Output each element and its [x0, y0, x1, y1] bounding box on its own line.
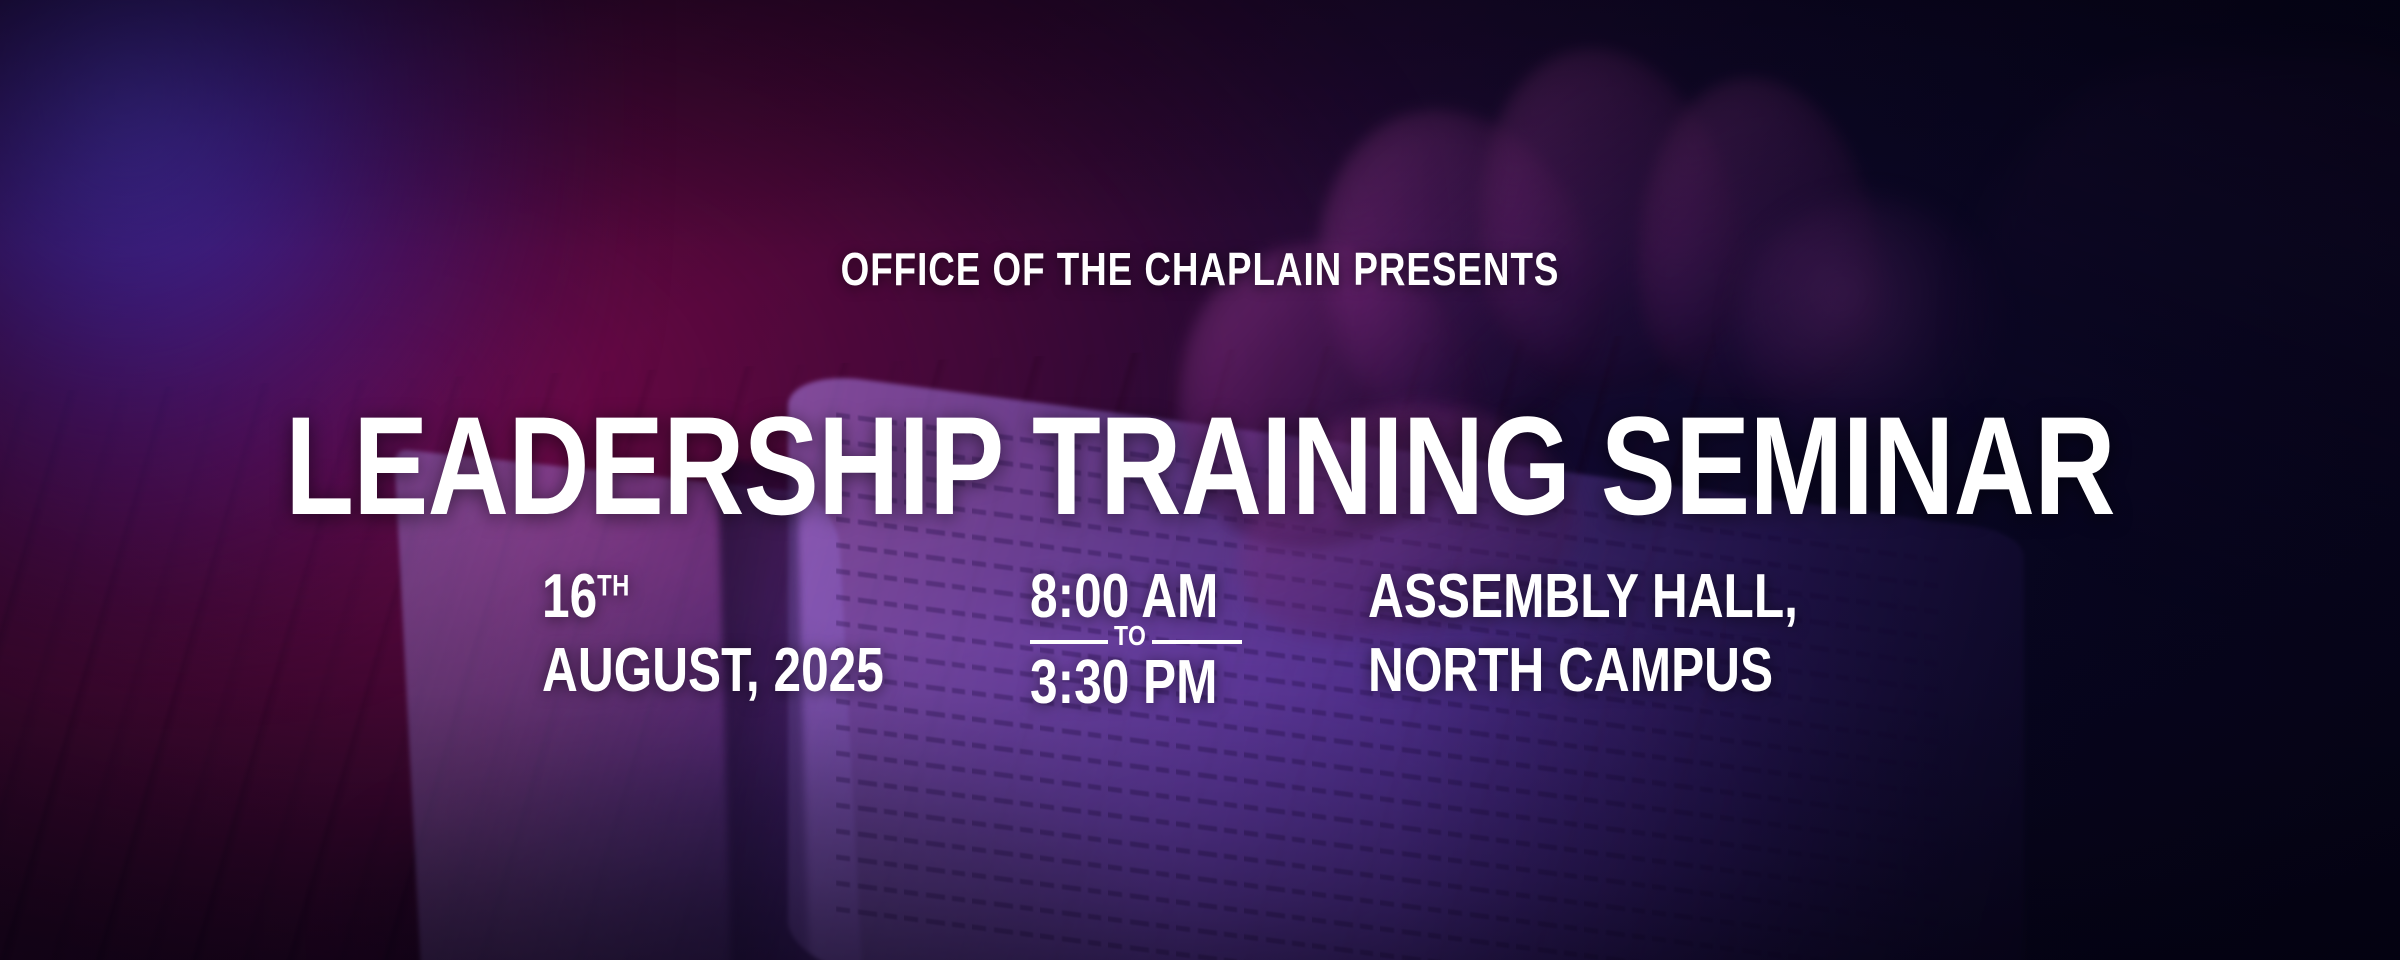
time-rule-left: [1030, 640, 1108, 644]
event-time-end: 3:30 PM: [1030, 646, 1340, 720]
event-date-month-year: AUGUST, 2025: [542, 634, 1000, 708]
banner-kicker: OFFICE OF THE CHAPLAIN PRESENTS: [240, 246, 2160, 292]
event-venue-block: ASSEMBLY HALL, NORTH CAMPUS: [1340, 560, 1900, 708]
event-date-day: 16TH: [542, 560, 1000, 634]
event-time-start: 8:00 AM: [1030, 560, 1340, 634]
date-day-number: 16: [542, 562, 597, 631]
banner-content: OFFICE OF THE CHAPLAIN PRESENTS LEADERSH…: [0, 0, 2400, 960]
banner-title: LEADERSHIP TRAINING SEMINAR: [234, 396, 2166, 536]
event-time-block: 8:00 AM TO 3:30 PM: [1000, 560, 1340, 720]
event-details-row: 16TH AUGUST, 2025 8:00 AM TO 3:30: [0, 560, 2400, 720]
venue-line-2: NORTH CAMPUS: [1368, 634, 1900, 708]
event-banner: OFFICE OF THE CHAPLAIN PRESENTS LEADERSH…: [0, 0, 2400, 960]
date-month-year-label: AUGUST, 2025: [542, 634, 884, 708]
event-date-block: 16TH AUGUST, 2025: [500, 560, 1000, 708]
time-rule-right: [1152, 640, 1242, 644]
time-end-label: 3:30 PM: [1030, 646, 1217, 720]
venue-line-2-label: NORTH CAMPUS: [1368, 634, 1773, 708]
venue-line-1: ASSEMBLY HALL,: [1368, 560, 1900, 634]
venue-line-1-label: ASSEMBLY HALL,: [1368, 560, 1798, 634]
date-day-suffix: TH: [597, 569, 630, 602]
